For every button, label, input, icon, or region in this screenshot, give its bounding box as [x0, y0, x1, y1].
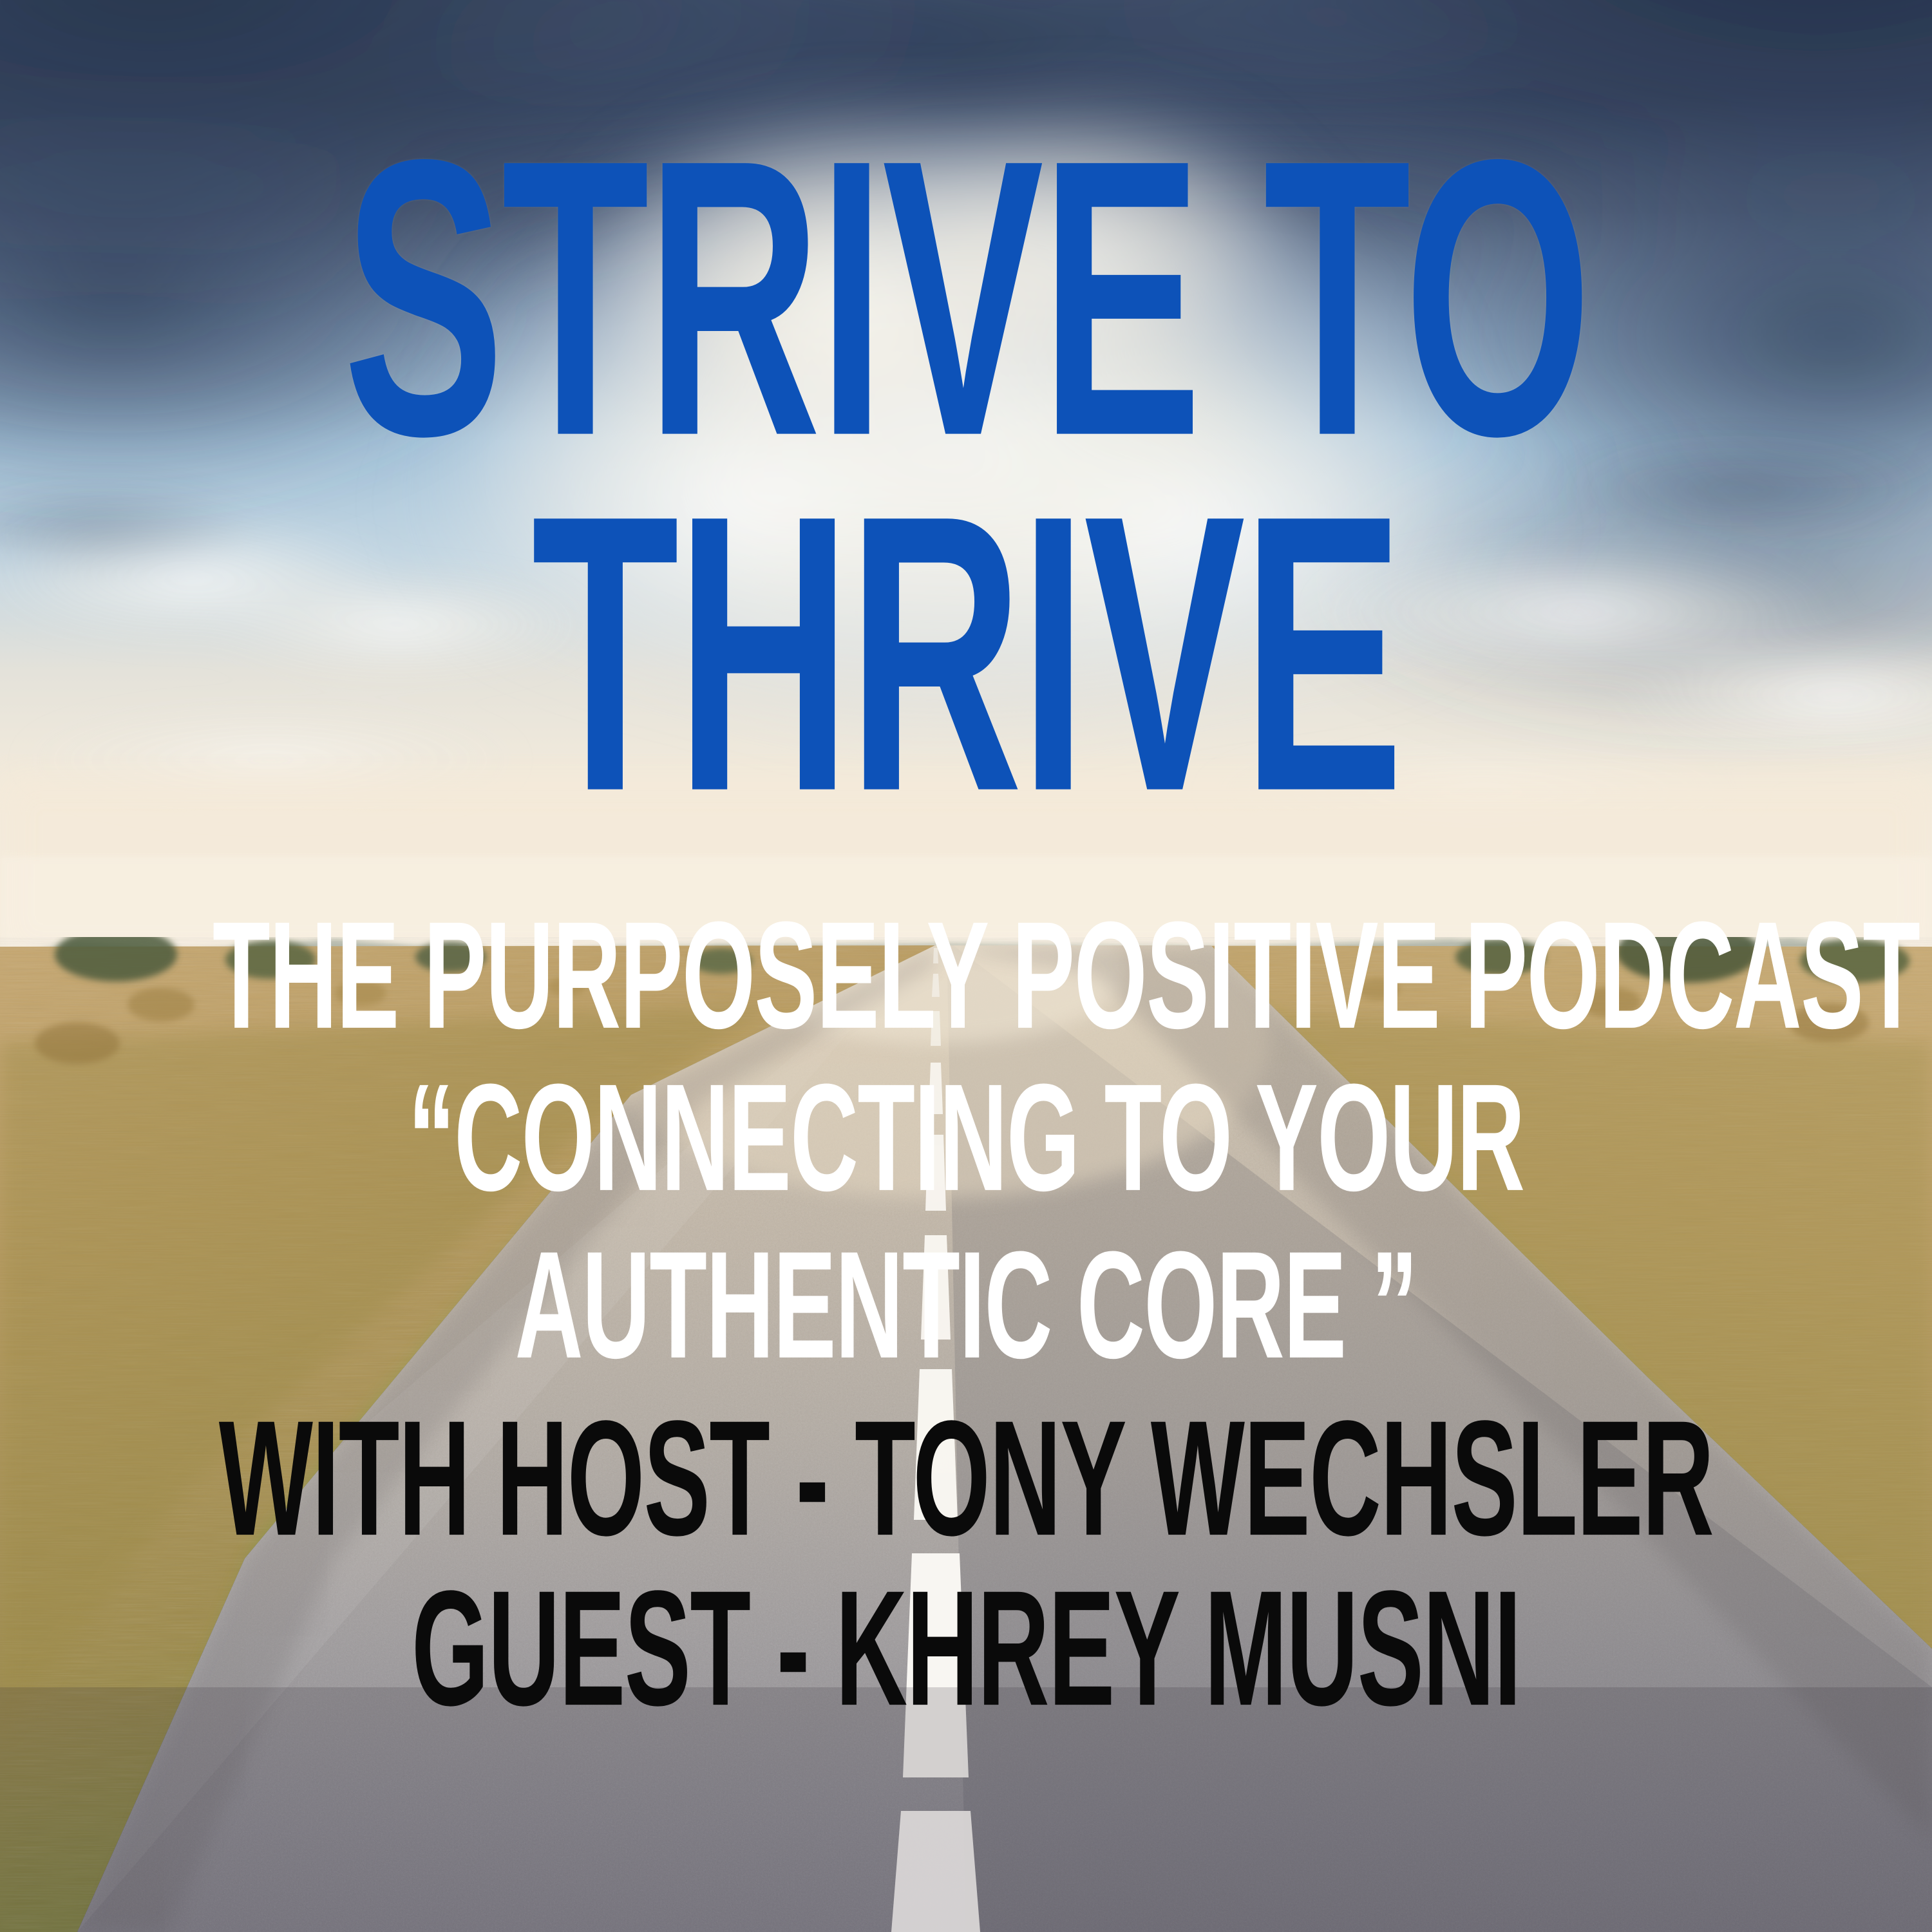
podcast-cover-art: STRIVE TO THRIVE THE PURPOSELY POSITIVE …: [0, 0, 1932, 1932]
text-overlay: STRIVE TO THRIVE THE PURPOSELY POSITIVE …: [0, 0, 1932, 1932]
show-title-line-2: THRIVE: [193, 457, 1739, 851]
episode-title-line-2: AUTHENTIC CORE ”: [213, 1229, 1719, 1381]
guest-credit: GUEST - KHREY MUSNI: [203, 1567, 1729, 1731]
show-subtitle: THE PURPOSELY POSITIVE PODCAST: [213, 899, 1719, 1052]
episode-title-line-1: “CONNECTING TO YOUR: [213, 1061, 1719, 1214]
host-credit: WITH HOST - TONY WECHSLER: [203, 1397, 1729, 1561]
